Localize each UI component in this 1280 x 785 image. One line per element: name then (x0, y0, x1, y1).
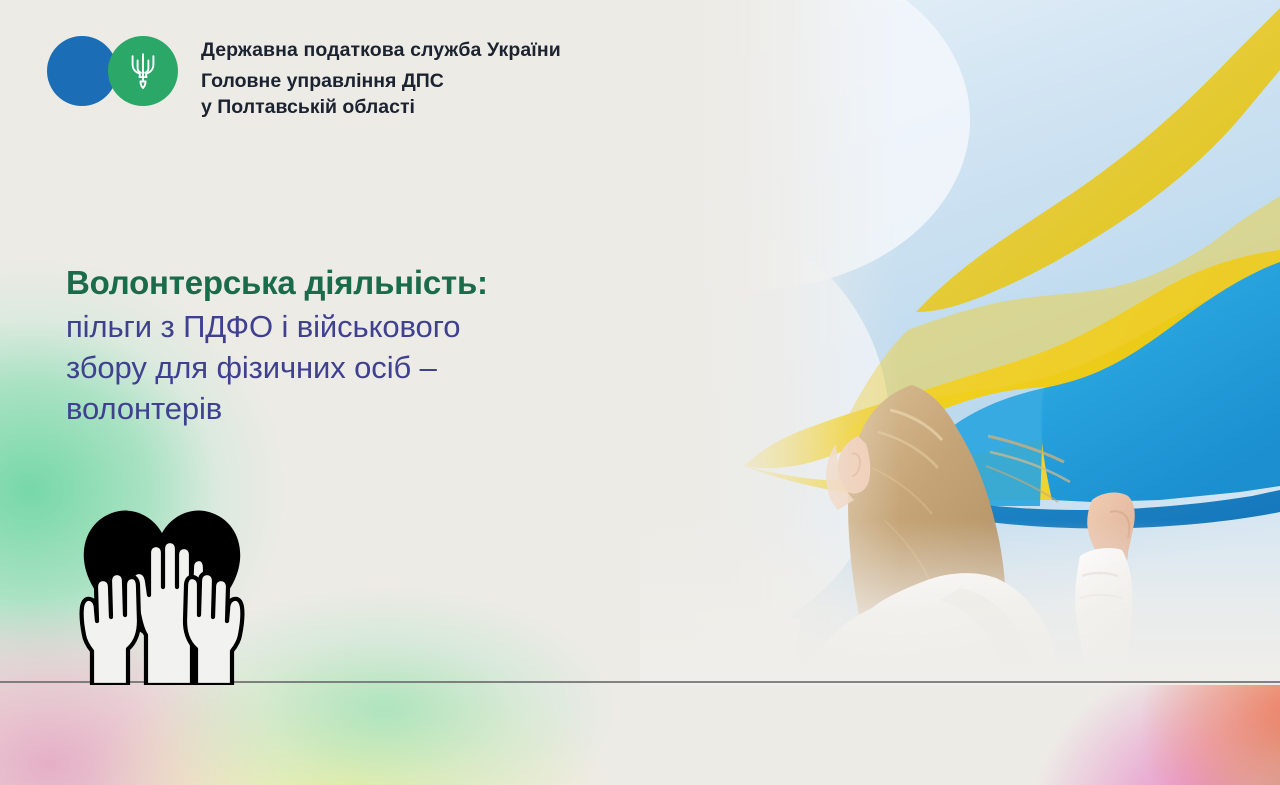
blob-tan-bottom-right (1180, 700, 1280, 785)
headline-title: Волонтерська діяльність: (66, 262, 626, 305)
hand-left (82, 573, 139, 685)
headline-subtitle-line-1: пільги з ПДФО і військового (66, 307, 626, 348)
poster-canvas: Державна податкова служба України Головн… (0, 0, 1280, 785)
heart-with-raised-hands-icon (72, 503, 252, 685)
headline-subtitle-line-2: збору для фізичних осіб – (66, 348, 626, 389)
organisation-logo-block: Державна податкова служба України Головн… (47, 36, 561, 120)
organisation-name: Державна податкова служба України Головн… (201, 36, 561, 120)
blue-circle-icon (47, 36, 117, 106)
headline-block: Волонтерська діяльність: пільги з ПДФО і… (66, 262, 626, 430)
headline-subtitle-line-3: волонтерів (66, 389, 626, 430)
ukraine-trident-icon (126, 51, 160, 91)
hero-photo-woman-with-flag (640, 0, 1280, 682)
org-title-line-1: Державна податкова служба України (201, 38, 561, 62)
org-title-line-3: у Полтавській області (201, 95, 561, 120)
green-circle-icon (108, 36, 178, 106)
logo-marks (47, 36, 187, 106)
headline-subtitle: пільги з ПДФО і військового збору для фі… (66, 307, 626, 430)
org-title-line-2: Головне управління ДПС (201, 69, 561, 94)
